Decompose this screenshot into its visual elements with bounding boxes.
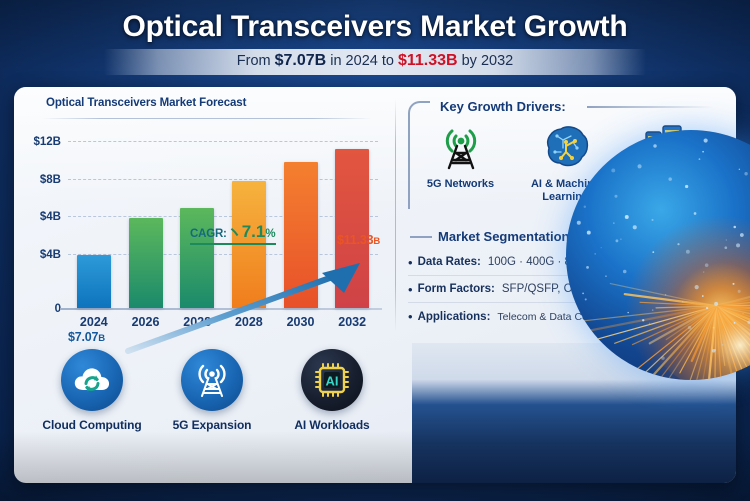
chart-panel: Optical Transceivers Market Forecast $12… [24, 93, 389, 341]
globe-speck [661, 356, 665, 360]
globe-speck [594, 253, 596, 255]
subtitle: From $7.07B in 2024 to $11.33B by 2032 [0, 52, 750, 70]
globe-speck [736, 243, 740, 247]
header: Optical Transceivers Market Growth From … [0, 0, 750, 84]
globe-speck [686, 250, 690, 254]
globe-speck [652, 309, 654, 311]
globe-speck [688, 326, 691, 329]
globe-speck [694, 212, 697, 215]
subtitle-mid: in 2024 to [326, 53, 398, 69]
segmentation-key: Applications: [418, 311, 491, 323]
cagr-label: CAGR: [190, 228, 227, 240]
globe-speck [653, 144, 656, 147]
chart-y-tick-label: $12B [34, 136, 62, 148]
drivers-heading: Key Growth Drivers: [440, 99, 566, 114]
globe-speck [702, 295, 704, 297]
globe-speck [633, 225, 637, 229]
cagr-value: 7.1 [242, 222, 266, 241]
chart-title-rule [42, 118, 372, 119]
globe-speck [685, 185, 688, 188]
bullet-icon: • [408, 256, 413, 269]
driver-label: 5G Networks [408, 178, 513, 191]
svg-text:AI: AI [326, 374, 339, 389]
globe-speck [611, 169, 615, 173]
globe-light-rays [566, 130, 750, 380]
segmentation-heading: Market Segmentation: [438, 229, 574, 244]
subtitle-prefix: From [237, 53, 275, 69]
globe-speck [705, 263, 709, 267]
globe-speck [706, 307, 708, 309]
globe-speck [734, 322, 736, 324]
globe-speck [620, 238, 622, 240]
ai-chip-icon: AI [301, 349, 363, 411]
cagr-annotation: CAGR:ヽ7.1% [190, 221, 276, 245]
globe-speck [713, 327, 715, 329]
globe-speck [714, 302, 718, 306]
chart-y-tick-label: $8B [40, 174, 61, 186]
chart-bar[interactable] [77, 255, 111, 308]
bullet-icon: • [408, 310, 413, 323]
globe-speck [703, 271, 704, 272]
globe-speck [738, 290, 741, 293]
globe-speck [652, 251, 654, 253]
globe-speck [651, 219, 653, 221]
globe-speck [733, 283, 735, 285]
globe-speck [740, 233, 744, 237]
subtitle-suffix: by 2032 [458, 53, 514, 69]
bullet-icon: • [408, 283, 413, 296]
segmentation-rule-left [410, 236, 432, 238]
end-label-main: $11.33 [337, 233, 373, 247]
chart-title: Optical Transceivers Market Forecast [46, 97, 246, 109]
chart-y-tick-label: $4B [40, 211, 61, 223]
globe-speck [587, 231, 591, 235]
chart-start-value-label: $7.07B [68, 330, 105, 344]
globe-speck [726, 239, 727, 240]
globe-speck [714, 349, 715, 350]
chart-x-tick-label: 2024 [68, 315, 120, 329]
subtitle-end-value: $11.33B [398, 52, 458, 69]
globe-speck [699, 158, 701, 160]
trend-arrow-icon [124, 259, 364, 355]
bottom-icon-item[interactable]: AI AI Workloads [272, 349, 392, 432]
infographic-root: Optical Transceivers Market Growth From … [0, 0, 750, 501]
cloud-sync-icon [61, 349, 123, 411]
globe-speck [722, 344, 724, 346]
globe-speck [637, 164, 641, 168]
globe-speck [702, 151, 704, 153]
fiber-optic-globe-image [566, 130, 750, 380]
globe-speck [625, 215, 629, 219]
globe-speck [577, 221, 581, 225]
cagr-up-arrow-icon: ヽ [227, 224, 242, 241]
globe-speck [677, 243, 679, 245]
globe-speck [682, 301, 683, 302]
cell-tower-icon [408, 119, 513, 175]
globe-speck [585, 298, 587, 300]
globe-speck [623, 270, 627, 274]
panel-divider [395, 99, 396, 331]
bottom-icon-label: 5G Expansion [152, 418, 272, 432]
globe-speck [586, 266, 589, 269]
globe-speck [584, 206, 586, 208]
globe-speck [665, 294, 666, 295]
globe-speck [668, 177, 672, 181]
chart-bar-slot: 2024 [68, 141, 120, 308]
drivers-rule-right [587, 106, 713, 108]
start-label-unit: B [98, 333, 105, 344]
bottom-icon-item[interactable]: 5G Expansion [152, 349, 272, 432]
chart-end-value-label: $11.33B [337, 233, 380, 247]
segmentation-key: Form Factors: [418, 283, 495, 295]
tower-broadcast-icon [181, 349, 243, 411]
globe-speck [739, 169, 740, 170]
globe-speck [642, 319, 644, 321]
globe-speck [605, 276, 606, 277]
globe-speck [744, 172, 747, 175]
driver-item[interactable]: 5G Networks [408, 119, 513, 203]
chart-y-tick-label: $4B [40, 249, 61, 261]
globe-speck [649, 323, 650, 324]
subtitle-start-value: $7.07B [275, 52, 327, 69]
globe-speck [627, 312, 628, 313]
end-label-unit: B [373, 236, 380, 247]
segmentation-key: Data Rates: [418, 256, 481, 268]
bottom-icon-row: Cloud Computing 5G Expansion AI A [32, 349, 392, 432]
bottom-icon-label: AI Workloads [272, 418, 392, 432]
cagr-percent-sign: % [265, 228, 275, 240]
bottom-icon-item[interactable]: Cloud Computing [32, 349, 152, 432]
bottom-icon-label: Cloud Computing [32, 418, 152, 432]
globe-speck [742, 313, 743, 314]
globe-speck [582, 293, 584, 295]
start-label-main: $7.07 [68, 330, 98, 344]
globe-speck [616, 239, 619, 242]
page-title: Optical Transceivers Market Growth [0, 10, 750, 44]
globe-speck [733, 226, 736, 229]
globe-speck [613, 222, 614, 223]
globe-speck [614, 195, 617, 198]
globe-speck [695, 285, 699, 289]
globe-speck [704, 138, 708, 142]
globe-speck [724, 246, 727, 249]
globe-speck [601, 247, 602, 248]
